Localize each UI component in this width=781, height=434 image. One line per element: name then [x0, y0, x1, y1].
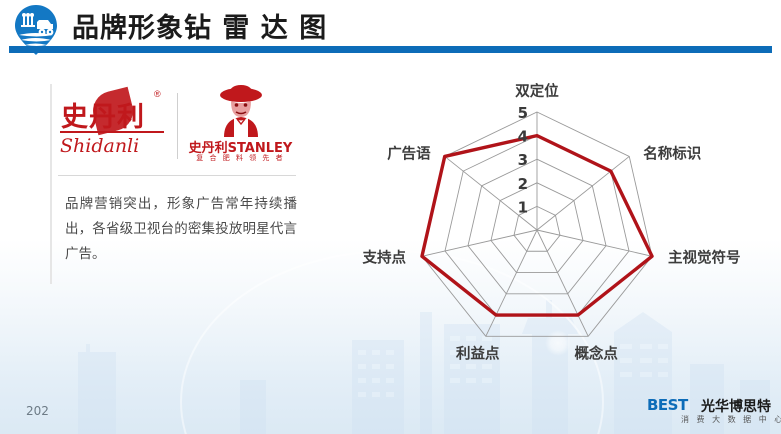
registered-mark: ® [154, 89, 161, 99]
shidanli-logo: 史丹利 ® Shidanli [55, 81, 171, 171]
radar-category-labels: 双定位名称标识主视觉符号概念点利益点支持点广告语 [363, 82, 741, 362]
company-name-cn: 光华博思特 [701, 396, 771, 416]
stanley-subtitle: 复 合 肥 料 领 先 者 [184, 153, 296, 163]
page-title: 品牌形象钻 雷 达 图 [72, 6, 327, 45]
slide-header: 品牌形象钻 雷 达 图 [0, 0, 781, 58]
radar-label-概念点: 概念点 [574, 344, 618, 362]
company-subtitle: 消 费 大 数 据 中 心 [681, 414, 781, 425]
shidanli-en-name: Shidanli [60, 135, 139, 157]
stanley-logo: 史丹利STANLEY 复 合 肥 料 领 先 者 [184, 81, 295, 171]
brand-description-text: 品牌营销突出，形象广告常年持续播出，各省级卫视台的密集投放明星代言广告。 [65, 192, 297, 267]
logo-separator [177, 93, 178, 159]
company-logo: BEST 光华博思特 消 费 大 数 据 中 心 [647, 396, 769, 428]
shidanli-cn-name: 史丹利 [61, 95, 145, 134]
radar-label-名称标识: 名称标识 [643, 144, 701, 162]
slide-root: 品牌形象钻 雷 达 图 史丹利 ® Shidanli [0, 0, 781, 434]
best-logo-mark: BEST [647, 396, 688, 414]
radar-axis-4 [486, 230, 537, 336]
brand-underline [60, 131, 164, 133]
radar-axis-3 [537, 230, 588, 336]
radar-tick-1: 1 [518, 198, 528, 216]
radar-label-双定位: 双定位 [515, 82, 559, 100]
left-vertical-divider [50, 84, 52, 284]
brand-logos-row: 史丹利 ® Shidanli [55, 80, 295, 172]
radar-tick-3: 3 [518, 151, 528, 169]
radar-axes [422, 112, 652, 336]
brand-info-panel: 史丹利 ® Shidanli [55, 80, 305, 290]
radar-tick-labels: 12345 [518, 104, 528, 216]
radar-tick-5: 5 [518, 104, 528, 122]
page-number: 202 [26, 404, 49, 418]
radar-label-利益点: 利益点 [456, 344, 500, 362]
panel-horizontal-divider [58, 175, 296, 176]
header-divider [9, 46, 772, 53]
radar-tick-4: 4 [518, 128, 528, 146]
radar-chart: 12345 双定位名称标识主视觉符号概念点利益点支持点广告语 [340, 78, 770, 378]
radar-label-主视觉符号: 主视觉符号 [668, 248, 741, 266]
radar-label-广告语: 广告语 [387, 144, 431, 162]
radar-label-支持点: 支持点 [363, 248, 407, 266]
radar-chart-svg: 12345 双定位名称标识主视觉符号概念点利益点支持点广告语 [340, 78, 770, 378]
radar-tick-2: 2 [518, 175, 528, 193]
cowboy-portrait-icon [218, 83, 264, 137]
